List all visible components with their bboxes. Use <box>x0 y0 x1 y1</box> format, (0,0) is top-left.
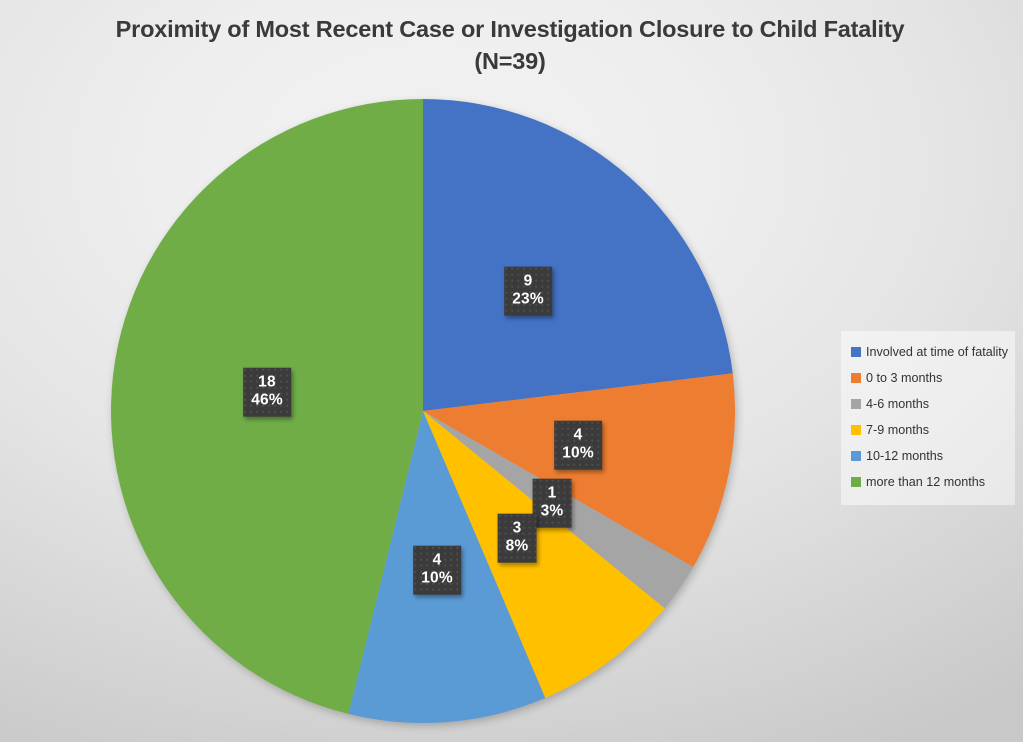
legend-item-label: more than 12 months <box>866 475 985 489</box>
pie-data-label: 18 46% <box>243 368 291 417</box>
pie-chart-container: Proximity of Most Recent Case or Investi… <box>0 0 1023 742</box>
legend-color-swatch-icon <box>851 399 861 409</box>
pie-data-label: 1 3% <box>533 479 572 528</box>
legend-color-swatch-icon <box>851 373 861 383</box>
legend-item[interactable]: 10-12 months <box>851 443 1009 469</box>
legend-color-swatch-icon <box>851 347 861 357</box>
pie-data-label: 4 10% <box>554 421 602 470</box>
pie-slice-group <box>111 99 735 723</box>
chart-legend: Involved at time of fatality0 to 3 month… <box>841 331 1015 505</box>
legend-color-swatch-icon <box>851 477 861 487</box>
pie-slice[interactable] <box>423 99 733 411</box>
pie-plot-area <box>111 99 735 723</box>
legend-item-label: Involved at time of fatality <box>866 345 1008 359</box>
legend-color-swatch-icon <box>851 451 861 461</box>
legend-item[interactable]: more than 12 months <box>851 469 1009 495</box>
legend-item[interactable]: Involved at time of fatality <box>851 339 1009 365</box>
legend-item-label: 0 to 3 months <box>866 371 942 385</box>
legend-item[interactable]: 7-9 months <box>851 417 1009 443</box>
legend-item[interactable]: 4-6 months <box>851 391 1009 417</box>
chart-title: Proximity of Most Recent Case or Investi… <box>60 14 960 77</box>
pie-svg <box>111 99 735 723</box>
legend-item-label: 7-9 months <box>866 423 929 437</box>
pie-data-label: 4 10% <box>413 546 461 595</box>
legend-item-label: 4-6 months <box>866 397 929 411</box>
legend-color-swatch-icon <box>851 425 861 435</box>
legend-item[interactable]: 0 to 3 months <box>851 365 1009 391</box>
pie-data-label: 9 23% <box>504 267 552 316</box>
pie-data-label: 3 8% <box>498 514 537 563</box>
legend-item-label: 10-12 months <box>866 449 943 463</box>
